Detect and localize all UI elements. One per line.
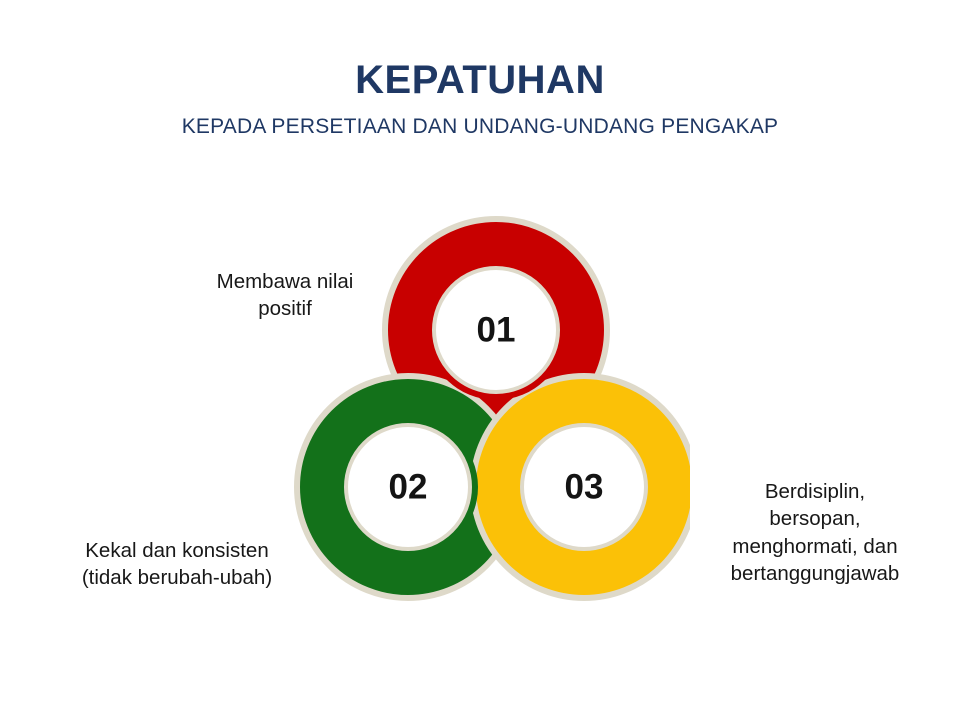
- callout-02-line-1: Kekal dan konsisten: [22, 537, 332, 564]
- callout-01-line-2: positif: [150, 295, 420, 322]
- venn-svg: 01 02 03: [270, 205, 690, 615]
- callout-label-02: Kekal dan konsisten (tidak berubah-ubah): [22, 537, 332, 592]
- callout-03-line-2: bersopan,: [690, 505, 940, 532]
- callout-03-line-4: bertanggungjawab: [690, 560, 940, 587]
- ring-03-number: 03: [565, 468, 604, 507]
- page-title: KEPATUHAN: [0, 58, 960, 103]
- callout-03-line-3: menghormati, dan: [690, 533, 940, 560]
- ring-01-number: 01: [477, 311, 516, 350]
- callout-02-line-2: (tidak berubah-ubah): [22, 564, 332, 591]
- callout-03-line-1: Berdisiplin,: [690, 478, 940, 505]
- title-block: KEPATUHAN KEPADA PERSETIAAN DAN UNDANG-U…: [0, 58, 960, 139]
- three-ring-venn-diagram: 01 02 03: [270, 205, 690, 615]
- ring-02-number: 02: [389, 468, 428, 507]
- callout-label-03: Berdisiplin, bersopan, menghormati, dan …: [690, 478, 940, 587]
- page-subtitle: KEPADA PERSETIAAN DAN UNDANG-UNDANG PENG…: [0, 114, 960, 139]
- callout-label-01: Membawa nilai positif: [150, 268, 420, 323]
- slide-canvas: KEPATUHAN KEPADA PERSETIAAN DAN UNDANG-U…: [0, 0, 960, 720]
- callout-01-line-1: Membawa nilai: [150, 268, 420, 295]
